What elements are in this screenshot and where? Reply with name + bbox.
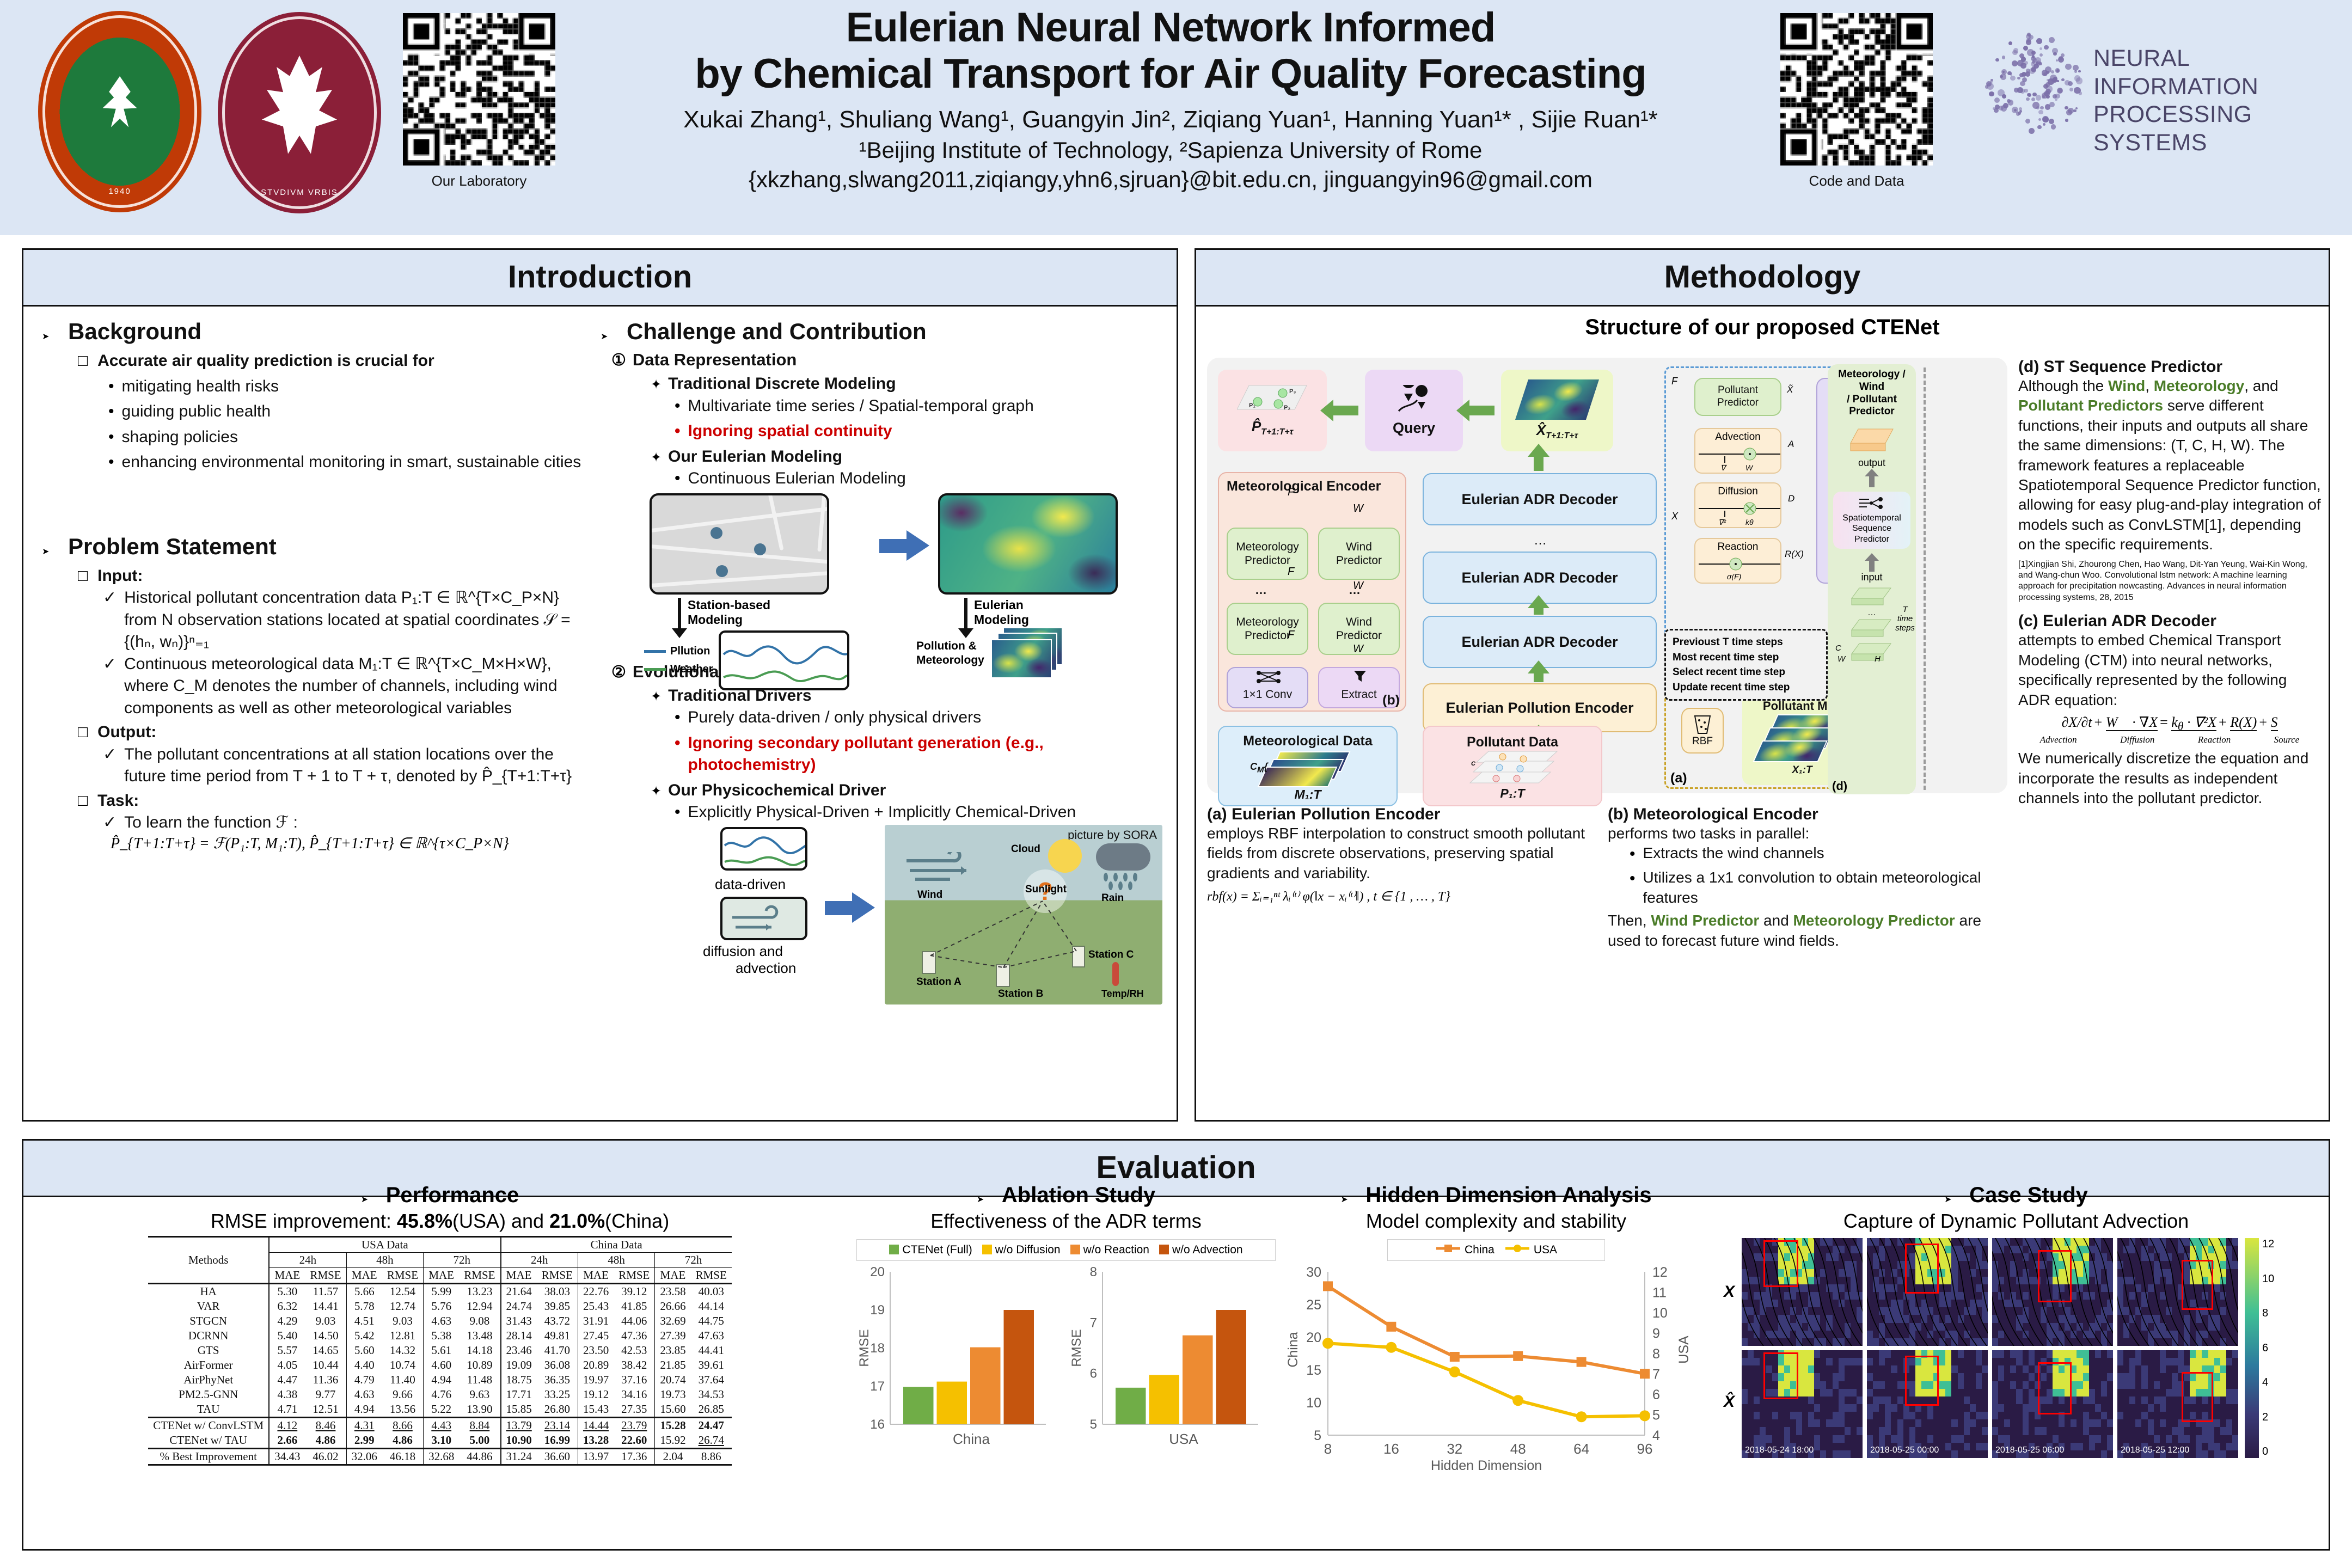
table-cell: 2.99: [346, 1433, 382, 1449]
background-bullet-text: guiding public health: [122, 401, 271, 423]
svg-text:RMSE: RMSE: [1069, 1329, 1084, 1367]
traditional-discrete-modeling-label: Traditional Discrete Modeling: [668, 373, 896, 395]
node-extract-label: Extract: [1341, 688, 1376, 701]
table-cell: 21.64: [501, 1284, 537, 1300]
table-horizon-4: 48h: [578, 1253, 654, 1268]
dot-bullet-icon: •: [675, 468, 681, 489]
table-row: CTENet w/ TAU2.664.862.994.863.105.0010.…: [148, 1433, 732, 1449]
chevron-right-icon: ➤: [361, 1194, 375, 1205]
diamond-bullet-icon: ✦: [651, 783, 661, 799]
table-cell: 32.06: [346, 1449, 382, 1465]
dim-label-h: H: [1875, 654, 1881, 664]
case-row-label-xhat: X̂: [1717, 1346, 1742, 1458]
checkmark-icon: ✓: [103, 653, 117, 676]
svg-text:5: 5: [1314, 1428, 1321, 1443]
problem-item: ✓Historical pollutant concentration data…: [103, 587, 592, 653]
table-cell: 14.18: [459, 1343, 500, 1358]
adr-term-label: Diffusion: [2120, 734, 2154, 745]
svg-text:6: 6: [1652, 1387, 1660, 1402]
dot-bullet-icon: •: [108, 401, 114, 422]
node-pollutant-data: Pollutant Data C P₁:T: [1423, 726, 1602, 806]
legend-swatch: [1070, 1245, 1080, 1254]
node-meteorology-predictor-2: MeteorologyPredictor: [1227, 528, 1308, 580]
node-meteorological-data: Meteorological Data CM{ M₁:T: [1218, 726, 1398, 806]
table-cell: 13.90: [459, 1402, 500, 1418]
station-based-label-1: Station-based: [688, 598, 770, 613]
table-cell: 19.73: [655, 1387, 691, 1402]
eulerian-modeling-figure: Station-based Modeling Eulerian Modeling…: [633, 493, 1167, 657]
table-cell: 10.44: [305, 1358, 346, 1373]
dot-bullet-icon: •: [1630, 843, 1636, 865]
table-cell: 17.71: [501, 1387, 537, 1402]
svg-text:25: 25: [1306, 1297, 1321, 1313]
table-cell: 13.23: [459, 1284, 500, 1300]
qr-code-code-and-data[interactable]: Code and Data: [1780, 13, 1933, 189]
square-bullet-icon: □: [78, 793, 88, 809]
table-row: DCRNN5.4014.505.4212.815.3813.4828.1449.…: [148, 1328, 732, 1343]
table-row: HA5.3011.575.6612.545.9913.2321.6438.032…: [148, 1284, 732, 1300]
desc-b-bullet-list: •Extracts the wind channels•Utilizes a 1…: [1630, 843, 1989, 908]
table-row-label: PM2.5-GNN: [148, 1387, 269, 1402]
table-row-label: GTS: [148, 1343, 269, 1358]
table-cell: 41.85: [614, 1299, 655, 1314]
table-cell: 26.85: [691, 1402, 732, 1418]
desc-b-bullet-text: Utilizes a 1x1 convolution to obtain met…: [1643, 868, 1989, 908]
table-cell: 31.24: [501, 1449, 537, 1465]
node-query-label: Query: [1393, 420, 1435, 437]
node-predicted-field: X̂T+1:T+τ: [1501, 370, 1613, 451]
desc-c-body2: We numerically discretize the equation a…: [2018, 749, 2321, 808]
checkmark-icon: ✓: [103, 587, 117, 609]
table-cell: 34.16: [614, 1387, 655, 1402]
table-cell: 36.08: [537, 1358, 578, 1373]
svg-text:∇²: ∇²: [1718, 518, 1726, 525]
svg-text:4: 4: [1652, 1428, 1660, 1443]
table-cell: 4.94: [424, 1373, 460, 1387]
table-cell: 44.06: [614, 1314, 655, 1328]
table-cell: 33.25: [537, 1387, 578, 1402]
svg-text:96: 96: [1637, 1441, 1653, 1457]
legend-pollution-label: Pllution: [670, 645, 710, 658]
square-bullet-icon: □: [78, 568, 88, 584]
divider: [1924, 367, 1926, 790]
ablation-legend: CTENet (Full)w/o Diffusionw/o Reactionw/…: [856, 1239, 1276, 1261]
data-driven-label: data-driven: [715, 876, 786, 893]
table-row-label: DCRNN: [148, 1328, 269, 1343]
physicochemical-driver-bullet-1: Explicitly Physical-Driven + Implicitly …: [688, 801, 1076, 824]
table-cell: 5.60: [346, 1343, 382, 1358]
svg-text:18: 18: [870, 1341, 885, 1356]
table-cell: 32.69: [655, 1314, 691, 1328]
table-cell: 2.66: [269, 1433, 305, 1449]
table-cell: 27.45: [578, 1328, 614, 1343]
table-cell: 5.57: [269, 1343, 305, 1358]
introduction-right-column: ➤ Challenge and Contribution ① Data Repr…: [601, 318, 1167, 963]
svg-text:∇: ∇: [1720, 463, 1727, 470]
case-cell: 2018-05-25 12:00: [2117, 1350, 2238, 1458]
eulerian-label-1: Eulerian: [974, 598, 1029, 613]
methodology-right-column: (d) ST Sequence Predictor Although the W…: [2018, 358, 2321, 808]
svg-text:P₂: P₂: [1284, 405, 1290, 411]
table-cell: 4.86: [382, 1433, 424, 1449]
diagram-legend-item: Previoust T time steps: [1673, 635, 1820, 650]
table-metric-rmse: RMSE: [382, 1268, 424, 1284]
table-cell: 4.29: [269, 1314, 305, 1328]
desc-b-tail: Then, Wind Predictor and Meteorology Pre…: [1608, 911, 1989, 951]
affiliations: ¹Beijing Institute of Technology, ²Sapie…: [577, 136, 1764, 166]
desc-a-title: (a) Eulerian Pollution Encoder: [1207, 805, 1588, 824]
table-horizon-5: 72h: [655, 1253, 732, 1268]
table-cell: 43.72: [537, 1314, 578, 1328]
svg-text:USA: USA: [1676, 1336, 1692, 1364]
case-highlight-box: [2038, 1362, 2072, 1414]
table-horizon-1: 48h: [346, 1253, 423, 1268]
case-timestamp: 2018-05-25 06:00: [1995, 1445, 2064, 1455]
problem-heading: Problem Statement: [68, 534, 277, 560]
table-metric-rmse: RMSE: [459, 1268, 500, 1284]
case-cell: [1992, 1238, 2113, 1346]
case-cell: [2117, 1238, 2238, 1346]
table-row-label: CTENet w/ TAU: [148, 1433, 269, 1449]
table-cell: 13.56: [382, 1402, 424, 1418]
dot-bullet-icon: •: [108, 426, 114, 448]
colorbar-tick: 6: [2262, 1342, 2274, 1355]
legend-weather-label: Weather: [670, 663, 713, 676]
problem-item-text: To learn the function ℱ :: [124, 812, 298, 834]
svg-text:30: 30: [1306, 1265, 1321, 1280]
table-cell: 3.10: [424, 1433, 460, 1449]
diamond-bullet-icon: ✦: [651, 689, 661, 705]
node-pollutant-predictor: PollutantPredictor: [1694, 378, 1781, 416]
table-row: STGCN4.299.034.519.034.639.0831.4343.723…: [148, 1314, 732, 1328]
svg-text:11: 11: [1652, 1285, 1667, 1301]
case-timestamp: 2018-05-25 00:00: [1870, 1445, 1939, 1455]
node-spatiotemporal-sequence-predictor: SpatiotemporalSequencePredictor: [1833, 492, 1910, 549]
problem-item: ✓Continuous meteorological data M₁:T ∈ ℝ…: [103, 653, 592, 720]
table-row: GTS5.5714.655.6014.325.6114.1823.4641.70…: [148, 1343, 732, 1358]
logo-bit-caption: 1940: [38, 187, 201, 196]
table-cell: 13.79: [501, 1418, 537, 1434]
table-cell: 4.94: [346, 1402, 382, 1418]
performance-header: ➤ Performance: [40, 1183, 840, 1208]
task-label: Task:: [97, 790, 139, 812]
table-group-china: China Data: [501, 1237, 732, 1253]
ablation-header: ➤ Ablation Study: [856, 1183, 1276, 1208]
table-cell: 42.53: [614, 1343, 655, 1358]
legend-swatch: [889, 1245, 899, 1254]
case-cell: [1867, 1238, 1988, 1346]
background-bullet: •mitigating health risks: [108, 376, 592, 398]
problem-item: ✓To learn the function ℱ :: [103, 812, 592, 834]
table-cell: 4.38: [269, 1387, 305, 1402]
predictor-panel-title: Meteorology / Wind/ Pollutant Predictor: [1828, 364, 1916, 418]
ablation-section: ➤ Ablation Study Effectiveness of the AD…: [856, 1183, 1276, 1454]
table-cell: 12.81: [382, 1328, 424, 1343]
table-cell: 9.63: [459, 1387, 500, 1402]
table-cell: 40.03: [691, 1284, 732, 1300]
dim-label-w: W: [1837, 654, 1845, 664]
table-cell: 13.48: [459, 1328, 500, 1343]
table-metric-mae: MAE: [501, 1268, 537, 1284]
legend-label: w/o Reaction: [1083, 1244, 1149, 1256]
qr-laboratory-caption: Our Laboratory: [403, 173, 555, 189]
table-row: % Best Improvement34.4346.0232.0646.1832…: [148, 1449, 732, 1465]
table-cell: 4.12: [269, 1418, 305, 1434]
table-cell: 4.31: [346, 1418, 382, 1434]
node-rbf: RBF: [1681, 708, 1724, 754]
poster-title-line2: by Chemical Transport for Air Quality Fo…: [577, 51, 1764, 97]
legend-label: China: [1465, 1244, 1494, 1256]
case-study-header: ➤ Case Study: [1717, 1183, 2316, 1208]
problem-item-text: Historical pollutant concentration data …: [124, 587, 592, 653]
legend-label: w/o Advection: [1172, 1244, 1243, 1256]
table-row-label: VAR: [148, 1299, 269, 1314]
legend-label: USA: [1534, 1244, 1557, 1256]
node-reaction: Reaction σ(F): [1694, 538, 1781, 584]
table-cell: 4.79: [346, 1373, 382, 1387]
our-eulerian-modeling-label: Our Eulerian Modeling: [668, 446, 842, 468]
dot-bullet-icon: •: [108, 376, 114, 397]
performance-heading: Performance: [386, 1183, 519, 1208]
ablation-subtitle: Effectiveness of the ADR terms: [856, 1210, 1276, 1233]
colorbar-tick: 2: [2262, 1411, 2274, 1424]
table-row-label: STGCN: [148, 1314, 269, 1328]
svg-text:China: China: [953, 1431, 990, 1447]
svg-text:9: 9: [1652, 1326, 1660, 1342]
colorbar-tick: 12: [2262, 1238, 2274, 1251]
desc-d-reference: [1]Xingjian Shi, Zhourong Chen, Hao Wang…: [2018, 559, 2321, 604]
diagram-legend-item: Update recent time step: [1673, 680, 1820, 695]
background-bullet-text: enhancing environmental monitoring in sm…: [122, 451, 581, 474]
logo-sapienza-university: STVDIVM VRBIS: [218, 12, 381, 213]
dot-bullet-icon: •: [675, 801, 681, 823]
table-cell: 5.66: [346, 1284, 382, 1300]
svg-text:8: 8: [1090, 1266, 1097, 1279]
node-wind-predictor-2: WindPredictor: [1318, 528, 1400, 580]
table-cell: 17.36: [614, 1449, 655, 1465]
table-cell: 9.03: [382, 1314, 424, 1328]
table-metric-mae: MAE: [346, 1268, 382, 1284]
table-cell: 19.09: [501, 1358, 537, 1373]
table-cell: 15.28: [655, 1418, 691, 1434]
table-cell: 14.65: [305, 1343, 346, 1358]
table-cell: 11.57: [305, 1284, 346, 1300]
table-cell: 16.99: [537, 1433, 578, 1449]
table-cell: 14.41: [305, 1299, 346, 1314]
traditional-drivers-bullet-2: Ignoring secondary pollutant generation …: [688, 732, 1167, 776]
hidden-dimension-heading: Hidden Dimension Analysis: [1365, 1183, 1651, 1208]
title-block: Eulerian Neural Network Informed by Chem…: [577, 4, 1764, 195]
background-bullet: •enhancing environmental monitoring in s…: [108, 451, 592, 474]
legend-item: USA: [1504, 1244, 1557, 1257]
svg-text:32: 32: [1447, 1441, 1462, 1457]
table-cell: 23.79: [614, 1418, 655, 1434]
table-group-usa: USA Data: [269, 1237, 500, 1253]
table-cell: 37.16: [614, 1373, 655, 1387]
svg-text:P₃: P₃: [1289, 388, 1296, 395]
diamond-bullet-icon: ✦: [651, 377, 661, 393]
case-highlight-box: [2182, 1260, 2213, 1310]
diagram-tag-b: (b): [1382, 693, 1400, 708]
desc-b-bullet-text: Extracts the wind channels: [1643, 843, 1824, 863]
chevron-right-icon: ➤: [1340, 1194, 1355, 1205]
pollutant-data-label: Pollutant Data: [1467, 734, 1558, 750]
case-highlight-box: [1763, 1240, 1798, 1287]
table-cell: 14.50: [305, 1328, 346, 1343]
table-cell: 12.51: [305, 1402, 346, 1418]
logo-beijing-institute-of-technology: 1940: [38, 11, 201, 212]
table-cell: 4.51: [346, 1314, 382, 1328]
dot-bullet-icon: •: [108, 451, 114, 473]
table-cell: 15.43: [578, 1402, 614, 1418]
hidden-dimension-header: ➤ Hidden Dimension Analysis: [1281, 1183, 1711, 1208]
case-cell: 2018-05-25 06:00: [1992, 1350, 2113, 1458]
data-driven-thumbnail: [720, 827, 807, 871]
table-cell: 36.60: [537, 1449, 578, 1465]
table-cell: 5.22: [424, 1402, 460, 1418]
diagram-tag-d-outer: (d): [1832, 779, 1847, 793]
table-cell: 10.90: [501, 1433, 537, 1449]
svg-text:5: 5: [1090, 1417, 1097, 1432]
case-highlight-box: [2038, 1250, 2072, 1302]
table-cell: 24.74: [501, 1299, 537, 1314]
node-meteorological-encoder-box: Meteorological Encoder MeteorologyPredic…: [1218, 472, 1406, 712]
predictor-input-label: input: [1828, 572, 1916, 583]
table-cell: 14.32: [382, 1343, 424, 1358]
table-cell: 13.97: [578, 1449, 614, 1465]
svg-text:8: 8: [1652, 1346, 1660, 1362]
desc-c-title: (c) Eulerian ADR Decoder: [2018, 612, 2321, 630]
table-row-label: HA: [148, 1284, 269, 1300]
background-heading: Background: [68, 318, 201, 345]
table-cell: 46.02: [305, 1449, 346, 1465]
svg-text:10: 10: [1652, 1306, 1668, 1321]
legend-item: w/o Advection: [1159, 1244, 1243, 1257]
poster-header: 1940 STVDIVM VRBIS Our Laboratory Euleri…: [0, 0, 2352, 235]
checkmark-icon: ✓: [103, 744, 117, 766]
table-horizon-3: 24h: [501, 1253, 578, 1268]
dot-bullet-icon: •: [675, 732, 681, 754]
table-row: CTENet w/ ConvLSTM4.128.464.318.664.438.…: [148, 1418, 732, 1434]
adr-equation: ∂X/∂t + W⃗ · ∇X = kθ · ∇²X + R(X) + S Ad…: [2018, 714, 2321, 745]
table-cell: 9.08: [459, 1314, 500, 1328]
desc-b-bullet: •Utilizes a 1x1 convolution to obtain me…: [1630, 868, 1989, 908]
table-cell: 23.46: [501, 1343, 537, 1358]
table-cell: 21.85: [655, 1358, 691, 1373]
table-row-label: AirPhyNet: [148, 1373, 269, 1387]
timeseries-thumbnail: [719, 630, 849, 690]
problem-statement-body: □Input:✓Historical pollutant concentrati…: [78, 565, 592, 853]
checkmark-icon: ✓: [103, 812, 117, 834]
legend-swatch: [1159, 1245, 1169, 1254]
table-cell: 4.47: [269, 1373, 305, 1387]
diffusion-advection-thumbnail: [720, 897, 807, 940]
table-cell: 5.38: [424, 1328, 460, 1343]
table-cell: 44.14: [691, 1299, 732, 1314]
table-metric-mae: MAE: [424, 1268, 460, 1284]
case-highlight-box: [2182, 1372, 2213, 1422]
table-cell: 20.74: [655, 1373, 691, 1387]
legend-label: w/o Diffusion: [995, 1244, 1061, 1256]
table-cell: 15.85: [501, 1402, 537, 1418]
chevron-right-icon: ➤: [1944, 1194, 1958, 1205]
svg-text:17: 17: [870, 1379, 885, 1394]
pollution-meteorology-label-2: Meteorology: [916, 653, 984, 667]
table-cell: 19.12: [578, 1387, 614, 1402]
table-cell: 47.63: [691, 1328, 732, 1343]
table-cell: 12.74: [382, 1299, 424, 1314]
traditional-drivers-bullet-1: Purely data-driven / only physical drive…: [688, 707, 982, 729]
table-cell: 4.40: [346, 1358, 382, 1373]
table-cell: 19.97: [578, 1373, 614, 1387]
table-cell: 47.36: [614, 1328, 655, 1343]
hidden-dimension-legend: ChinaUSA: [1387, 1239, 1605, 1261]
table-cell: 4.05: [269, 1358, 305, 1373]
table-cell: 15.92: [655, 1433, 691, 1449]
table-cell: 38.42: [614, 1358, 655, 1373]
table-cell: 5.40: [269, 1328, 305, 1343]
table-cell: 44.41: [691, 1343, 732, 1358]
legend-item: w/o Reaction: [1070, 1244, 1149, 1257]
table-cell: 44.75: [691, 1314, 732, 1328]
adr-term-label: Reaction: [2198, 734, 2231, 745]
table-cell: 9.66: [382, 1387, 424, 1402]
table-cell: 5.00: [459, 1433, 500, 1449]
desc-c-body: attempts to embed Chemical Transport Mod…: [2018, 630, 2321, 710]
problem-item-text: The pollutant concentrations at all stat…: [124, 744, 592, 788]
case-highlight-box: [1763, 1352, 1798, 1399]
square-bullet-icon: □: [78, 724, 88, 740]
case-highlight-box: [1905, 1244, 1939, 1294]
table-cell: 4.63: [424, 1314, 460, 1328]
svg-text:7: 7: [1652, 1367, 1660, 1382]
case-row-label-x: X: [1717, 1238, 1742, 1346]
predictor-output-label: output: [1828, 457, 1916, 469]
dim-label-c: C: [1835, 644, 1841, 653]
input-label: Input:: [97, 565, 143, 587]
table-cell: 15.60: [655, 1402, 691, 1418]
svg-text:10: 10: [1306, 1395, 1321, 1411]
table-cell: 49.81: [537, 1328, 578, 1343]
table-cell: 46.18: [382, 1449, 424, 1465]
chevron-right-icon: ➤: [42, 546, 56, 557]
table-cell: 26.80: [537, 1402, 578, 1418]
diagram-legend-item: Select recent time step: [1673, 665, 1820, 680]
case-study-heading: Case Study: [1969, 1183, 2088, 1208]
table-cell: 14.44: [578, 1418, 614, 1434]
challenge-section-header: ➤ Challenge and Contribution: [601, 318, 1167, 345]
eulerian-field-thumbnail: [938, 493, 1118, 595]
performance-subtitle: RMSE improvement: 45.8%(USA) and 21.0%(C…: [40, 1210, 840, 1233]
node-1x1-conv-label: 1×1 Conv: [1243, 688, 1292, 701]
table-cell: 34.53: [691, 1387, 732, 1402]
evaluation-panel: Evaluation ➤ Performance RMSE improvemen…: [22, 1139, 2330, 1551]
table-row: VAR6.3214.415.7812.745.7612.9424.7439.85…: [148, 1299, 732, 1314]
dot-bullet-icon: •: [675, 420, 681, 442]
table-cell: 23.50: [578, 1343, 614, 1358]
table-row: TAU4.7112.514.9413.565.2213.9015.8526.80…: [148, 1402, 732, 1418]
case-cell: 2018-05-25 00:00: [1867, 1350, 1988, 1458]
svg-text:48: 48: [1510, 1441, 1526, 1457]
legend-item: CTENet (Full): [889, 1244, 972, 1257]
table-row: AirFormer4.0510.444.4010.744.6010.8919.0…: [148, 1358, 732, 1373]
square-bullet-icon: □: [78, 353, 88, 369]
table-cell: 23.14: [537, 1418, 578, 1434]
table-cell: 31.43: [501, 1314, 537, 1328]
discrete-modeling-bullet-1: Multivariate time series / Spatial-tempo…: [688, 395, 1034, 418]
case-study-subtitle: Capture of Dynamic Pollutant Advection: [1717, 1210, 2316, 1233]
qr-code-laboratory[interactable]: Our Laboratory: [403, 13, 555, 189]
